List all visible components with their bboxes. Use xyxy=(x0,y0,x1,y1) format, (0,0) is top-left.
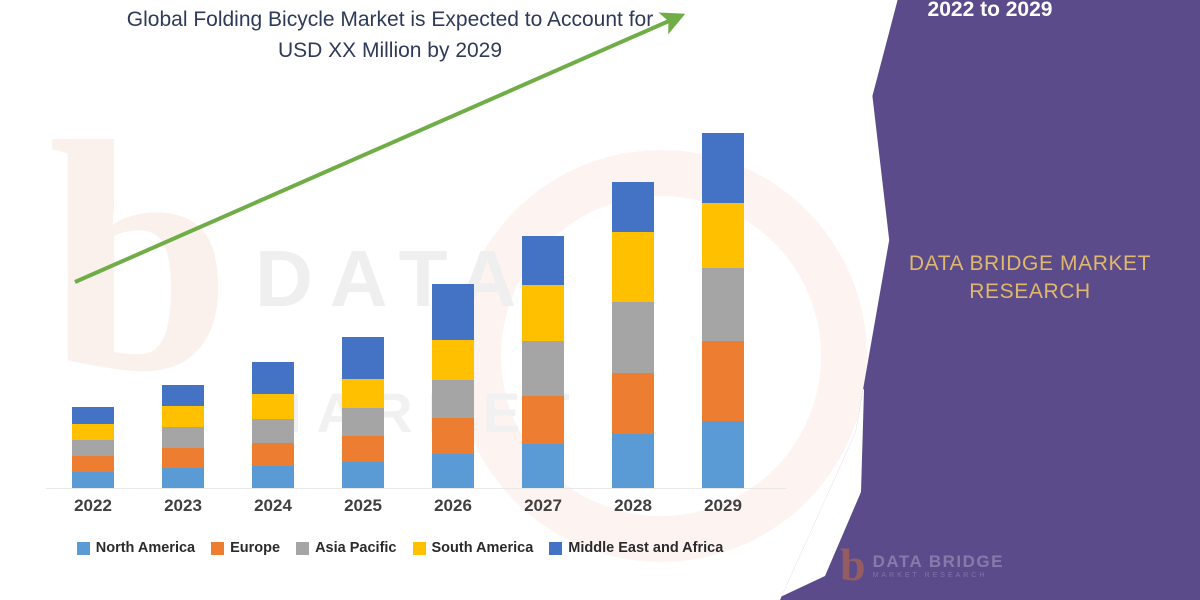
segment-middle-east-and-africa-2024[interactable] xyxy=(252,362,294,394)
legend-item-europe[interactable]: Europe xyxy=(211,540,280,556)
segment-asia-pacific-2029[interactable] xyxy=(702,268,744,341)
legend-item-asia-pacific[interactable]: Asia Pacific xyxy=(296,540,396,556)
footer-logo: b DATA BRIDGE MARKET RESEARCH xyxy=(840,545,1004,585)
segment-middle-east-and-africa-2022[interactable] xyxy=(72,407,114,424)
segment-north-america-2025[interactable] xyxy=(342,462,384,488)
segment-middle-east-and-africa-2026[interactable] xyxy=(432,284,474,340)
x-label-2026: 2026 xyxy=(413,496,493,516)
segment-south-america-2026[interactable] xyxy=(432,340,474,380)
chart-legend: North AmericaEuropeAsia PacificSouth Ame… xyxy=(0,540,800,556)
brand-name-line-1: DATA BRIDGE MARKET xyxy=(909,252,1151,275)
segment-south-america-2029[interactable] xyxy=(702,203,744,268)
bar-2024[interactable] xyxy=(252,362,294,488)
legend-item-north-america[interactable]: North America xyxy=(77,540,195,556)
segment-north-america-2022[interactable] xyxy=(72,472,114,488)
segment-north-america-2028[interactable] xyxy=(612,434,654,488)
x-label-2029: 2029 xyxy=(683,496,763,516)
legend-label: Middle East and Africa xyxy=(568,540,723,556)
x-label-2024: 2024 xyxy=(233,496,313,516)
segment-asia-pacific-2025[interactable] xyxy=(342,408,384,436)
segment-north-america-2029[interactable] xyxy=(702,421,744,488)
segment-europe-2025[interactable] xyxy=(342,436,384,462)
legend-label: North America xyxy=(96,540,195,556)
x-label-2022: 2022 xyxy=(53,496,133,516)
segment-south-america-2027[interactable] xyxy=(522,285,564,341)
segment-europe-2023[interactable] xyxy=(162,448,204,468)
segment-south-america-2024[interactable] xyxy=(252,394,294,419)
footer-logo-text: DATA BRIDGE xyxy=(873,552,1004,571)
bar-2023[interactable] xyxy=(162,385,204,488)
segment-asia-pacific-2027[interactable] xyxy=(522,341,564,396)
footer-logo-mark-icon: b xyxy=(840,545,866,585)
legend-swatch-icon xyxy=(413,542,426,555)
stacked-bar-chart: 20222023202420252026202720282029 North A… xyxy=(0,0,880,600)
segment-middle-east-and-africa-2027[interactable] xyxy=(522,236,564,285)
segment-middle-east-and-africa-2023[interactable] xyxy=(162,385,204,406)
x-axis-line xyxy=(46,488,786,489)
legend-label: South America xyxy=(432,540,534,556)
bar-2029[interactable] xyxy=(702,133,744,488)
legend-swatch-icon xyxy=(549,542,562,555)
infographic-canvas: b DATA MARKET Global Folding Bicycle Mar… xyxy=(0,0,1200,600)
legend-swatch-icon xyxy=(77,542,90,555)
segment-europe-2026[interactable] xyxy=(432,418,474,454)
bar-2022[interactable] xyxy=(72,407,114,488)
segment-europe-2029[interactable] xyxy=(702,341,744,421)
legend-swatch-icon xyxy=(211,542,224,555)
segment-north-america-2026[interactable] xyxy=(432,454,474,488)
plot-area xyxy=(0,110,800,488)
x-label-2023: 2023 xyxy=(143,496,223,516)
x-axis-tick-labels: 20222023202420252026202720282029 xyxy=(0,496,800,526)
brand-name: DATA BRIDGE MARKET RESEARCH xyxy=(880,250,1180,306)
x-label-2027: 2027 xyxy=(503,496,583,516)
footer-logo-subtext: MARKET RESEARCH xyxy=(873,572,1004,579)
bar-2028[interactable] xyxy=(612,182,654,488)
legend-item-middle-east-and-africa[interactable]: Middle East and Africa xyxy=(549,540,723,556)
segment-middle-east-and-africa-2028[interactable] xyxy=(612,182,654,232)
segment-middle-east-and-africa-2025[interactable] xyxy=(342,337,384,379)
segment-middle-east-and-africa-2029[interactable] xyxy=(702,133,744,203)
segment-asia-pacific-2024[interactable] xyxy=(252,419,294,443)
segment-south-america-2025[interactable] xyxy=(342,379,384,408)
legend-item-south-america[interactable]: South America xyxy=(413,540,534,556)
legend-label: Asia Pacific xyxy=(315,540,396,556)
segment-north-america-2023[interactable] xyxy=(162,468,204,488)
segment-north-america-2024[interactable] xyxy=(252,466,294,488)
segment-asia-pacific-2022[interactable] xyxy=(72,440,114,456)
legend-swatch-icon xyxy=(296,542,309,555)
segment-asia-pacific-2023[interactable] xyxy=(162,427,204,448)
x-label-2028: 2028 xyxy=(593,496,673,516)
bar-2027[interactable] xyxy=(522,236,564,488)
brand-name-line-2: RESEARCH xyxy=(969,280,1091,303)
legend-label: Europe xyxy=(230,540,280,556)
segment-europe-2022[interactable] xyxy=(72,456,114,472)
segment-south-america-2028[interactable] xyxy=(612,232,654,302)
segment-europe-2024[interactable] xyxy=(252,443,294,466)
segment-south-america-2023[interactable] xyxy=(162,406,204,427)
bar-2025[interactable] xyxy=(342,337,384,488)
segment-europe-2027[interactable] xyxy=(522,396,564,444)
bar-2026[interactable] xyxy=(432,284,474,488)
x-label-2025: 2025 xyxy=(323,496,403,516)
segment-europe-2028[interactable] xyxy=(612,373,654,434)
segment-asia-pacific-2028[interactable] xyxy=(612,302,654,373)
segment-north-america-2027[interactable] xyxy=(522,444,564,488)
segment-asia-pacific-2026[interactable] xyxy=(432,380,474,418)
segment-south-america-2022[interactable] xyxy=(72,424,114,440)
